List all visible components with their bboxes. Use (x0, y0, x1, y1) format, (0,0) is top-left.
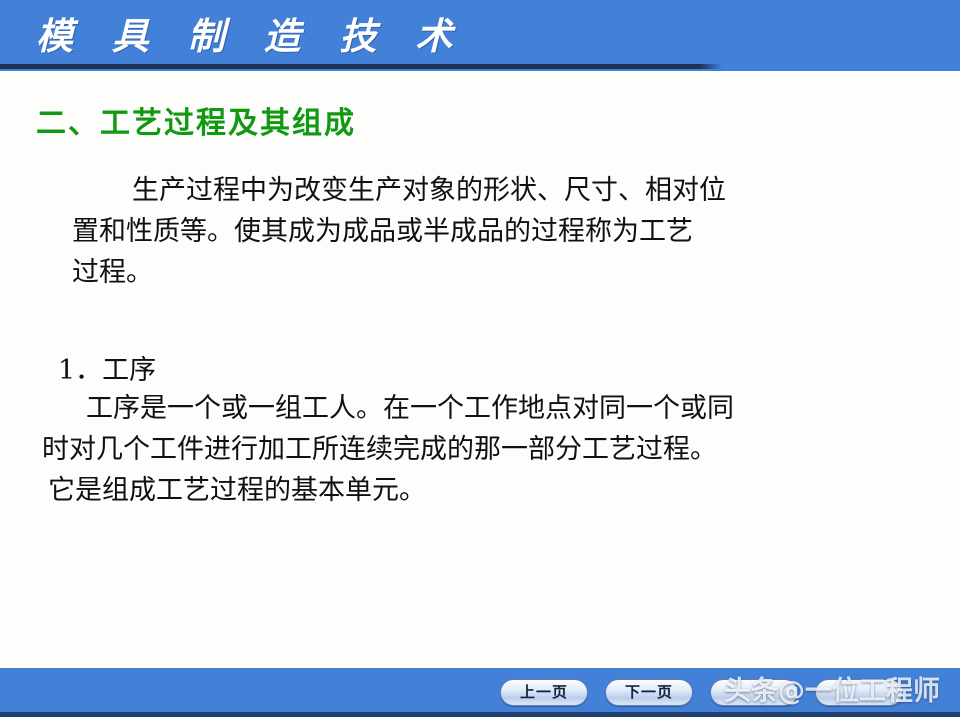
nav-button-4[interactable] (815, 679, 903, 706)
paragraph-line: 生产过程中为改变生产对象的形状、尺寸、相对位 (60, 170, 726, 211)
header-banner-right-extension (706, 0, 960, 66)
subheading-gongxu: 1．工序 (58, 352, 156, 390)
section-heading: 二、工艺过程及其组成 (36, 98, 356, 142)
slide-header-title: 模 具 制 造 技 术 (36, 10, 676, 62)
paragraph-line: 置和性质等。使其成为成品或半成品的过程称为工艺 (60, 211, 726, 252)
presentation-slide: 模 具 制 造 技 术 二、工艺过程及其组成 生产过程中为改变生产对象的形状、尺… (0, 0, 960, 720)
paragraph-line: 时对几个工件进行加工所连续完成的那一部分工艺过程。 (42, 429, 734, 470)
paragraph-process-definition: 生产过程中为改变生产对象的形状、尺寸、相对位 置和性质等。使其成为成品或半成品的… (60, 170, 726, 293)
paragraph-line: 工序是一个或一组工人。在一个工作地点对同一个或同 (42, 388, 734, 429)
paragraph-line: 它是组成工艺过程的基本单元。 (42, 470, 734, 511)
paragraph-gongxu-definition: 工序是一个或一组工人。在一个工作地点对同一个或同 时对几个工件进行加工所连续完成… (42, 388, 734, 511)
prev-page-button[interactable]: 上一页 (500, 679, 588, 706)
nav-button-3[interactable] (710, 679, 798, 706)
next-page-button[interactable]: 下一页 (605, 679, 693, 706)
header-rule (0, 64, 706, 69)
paragraph-line: 过程。 (60, 252, 726, 293)
header-rule-taper (700, 64, 722, 69)
